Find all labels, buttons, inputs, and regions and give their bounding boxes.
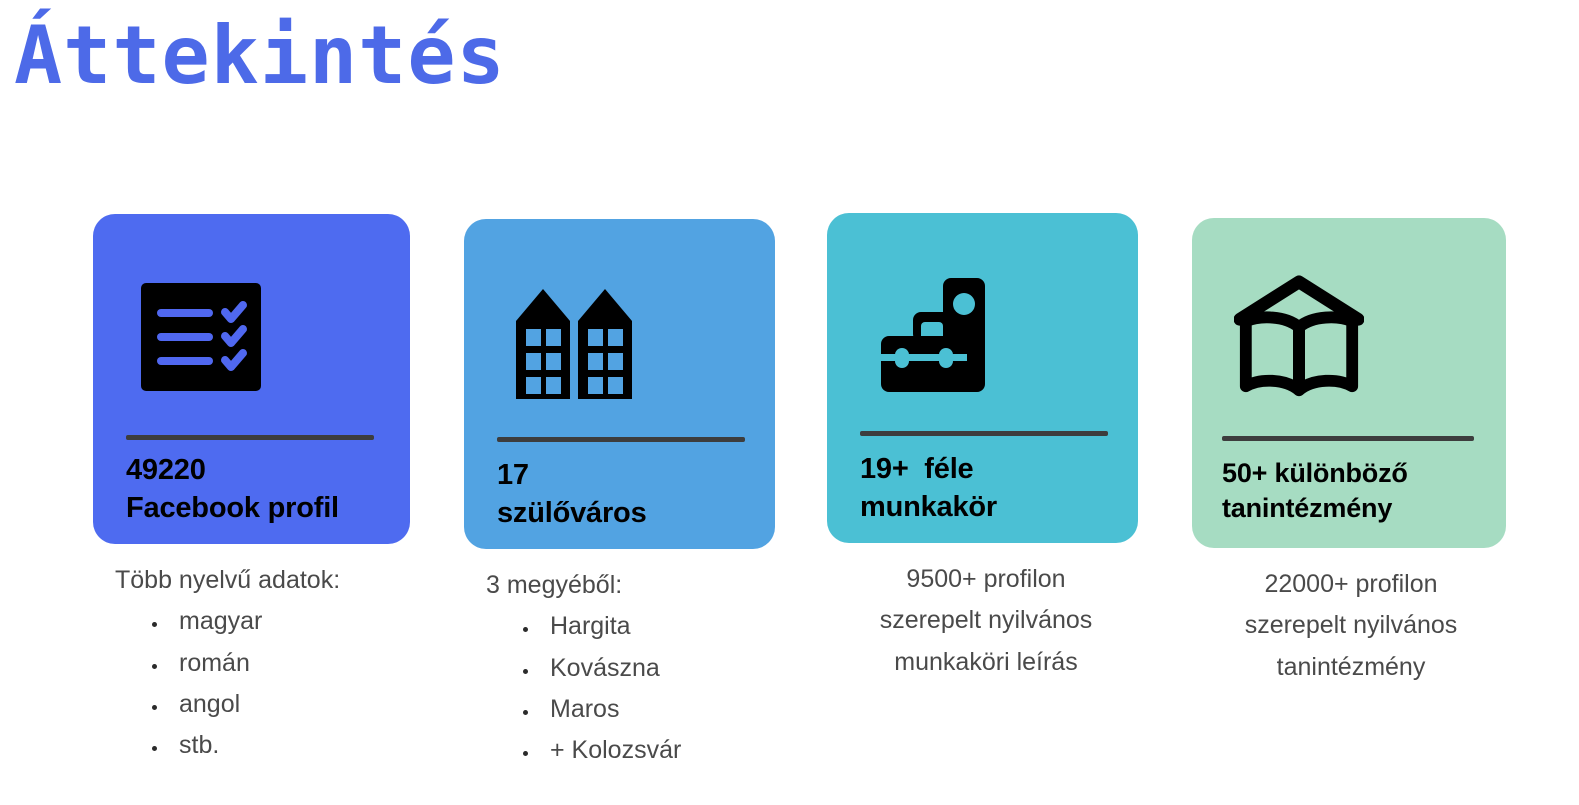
stat-card-facebook-profil[interactable]: 49220 Facebook profil [93, 214, 410, 544]
caption-line: szerepelt nyilvános [833, 600, 1139, 641]
card-stat-text: 19+ féle munkakör [860, 451, 1128, 526]
page-title: Áttekintés [14, 14, 506, 98]
card-divider [126, 435, 374, 440]
stat-column-4: 50+ különböző tanintézmény 22000+ profil… [1192, 205, 1510, 688]
list-item: román [169, 643, 411, 684]
card-stat-text: 49220 Facebook profil [126, 452, 400, 527]
card-caption-1: Több nyelvű adatok: magyar román angol s… [93, 560, 411, 766]
card-divider [860, 431, 1108, 436]
card-stat-text: 50+ különböző tanintézmény [1222, 456, 1496, 526]
stat-card-munkakor[interactable]: 19+ féle munkakör [827, 213, 1138, 543]
stat-card-grid: 49220 Facebook profil Több nyelvű adatok… [0, 205, 1579, 805]
card-caption-3: 9500+ profilon szerepelt nyilvános munka… [827, 559, 1145, 683]
list-item: + Kolozsvár [540, 730, 782, 771]
caption-line: tanintézmény [1198, 647, 1504, 688]
caption-lead: Több nyelvű adatok: [111, 560, 411, 601]
stat-column-2: 17 szülőváros 3 megyéből: Hargita Kovász… [464, 205, 782, 771]
card-caption-2: 3 megyéből: Hargita Kovászna Maros + Kol… [464, 565, 782, 771]
toolbox-icon [875, 271, 1005, 401]
caption-list: Hargita Kovászna Maros + Kolozsvár [482, 606, 782, 771]
caption-lead: 3 megyéből: [482, 565, 782, 606]
stat-column-3: 19+ féle munkakör 9500+ profilon szerepe… [827, 205, 1145, 683]
list-item: magyar [169, 601, 411, 642]
stat-card-tanintezmeny[interactable]: 50+ különböző tanintézmény [1192, 218, 1506, 548]
caption-line: szerepelt nyilvános [1198, 605, 1504, 646]
card-divider [1222, 436, 1474, 441]
caption-list: magyar román angol stb. [111, 601, 411, 766]
school-book-icon [1234, 272, 1364, 402]
stat-column-1: 49220 Facebook profil Több nyelvű adatok… [93, 205, 411, 766]
stat-card-szulovaros[interactable]: 17 szülőváros [464, 219, 775, 549]
card-divider [497, 437, 745, 442]
list-item: Maros [540, 689, 782, 730]
caption-line: 22000+ profilon [1198, 564, 1504, 605]
card-caption-4: 22000+ profilon szerepelt nyilvános tani… [1192, 564, 1510, 688]
list-item: stb. [169, 725, 411, 766]
list-item: Kovászna [540, 648, 782, 689]
caption-line: 9500+ profilon [833, 559, 1139, 600]
list-item: Hargita [540, 606, 782, 647]
card-stat-text: 17 szülőváros [497, 457, 765, 532]
buildings-icon [512, 277, 642, 407]
checklist-icon [141, 272, 271, 402]
list-item: angol [169, 684, 411, 725]
caption-line: munkaköri leírás [833, 642, 1139, 683]
